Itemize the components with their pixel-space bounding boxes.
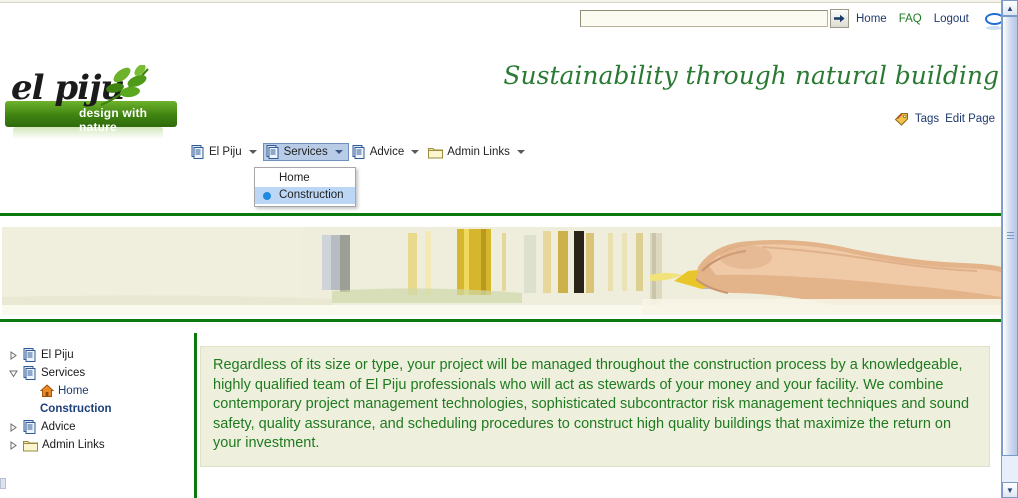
dropdown-item-label: Home [279, 172, 310, 184]
sidebar-item-label: Construction [40, 403, 112, 415]
arrow-right-icon [833, 12, 846, 25]
services-dropdown-menu[interactable]: Home Construction [254, 167, 356, 207]
logo-tagline: design with nature [79, 106, 183, 134]
menu-item-label: Admin Links [447, 146, 510, 158]
dropdown-item-construction[interactable]: Construction [255, 187, 355, 204]
banner-image [2, 227, 1001, 315]
menu-item-label: Advice [370, 146, 405, 158]
selected-bullet-icon [263, 192, 271, 200]
content-area: El Piju Services [0, 333, 1001, 498]
divider-rule-top [0, 213, 1001, 216]
leaf-branch-icon [96, 65, 156, 109]
menu-item-label: El Piju [209, 146, 242, 158]
folder-icon [428, 146, 443, 159]
scroll-down-button[interactable]: ▼ [1002, 482, 1018, 498]
sidebar-item-advice[interactable]: Advice [0, 418, 194, 436]
page-tools: Tags Edit Page [894, 112, 995, 126]
site-logo[interactable]: el piju design with nature [3, 61, 183, 139]
sidebar-item-label: El Piju [41, 349, 74, 361]
scrollbar-track[interactable] [1002, 16, 1018, 482]
chevron-down-icon [517, 150, 525, 154]
search-submit-button[interactable] [830, 9, 849, 28]
menu-item-admin-links[interactable]: Admin Links [425, 143, 531, 161]
home-icon [40, 384, 54, 398]
page-canvas: HomeFAQLogout el piju design with nature… [0, 3, 1001, 498]
utility-link-logout[interactable]: Logout [934, 13, 969, 25]
pages-icon [352, 145, 366, 159]
utility-links: HomeFAQLogout [856, 13, 981, 25]
user-avatar-icon[interactable] [985, 13, 1001, 25]
menu-item-advice[interactable]: Advice [349, 143, 426, 161]
utility-row: HomeFAQLogout [0, 5, 1001, 31]
twisty-expanded-icon[interactable] [8, 369, 19, 378]
main-menubar: El Piju Services [188, 142, 531, 162]
pages-icon [23, 420, 37, 434]
vertical-scrollbar[interactable]: ▲ ▼ [1001, 0, 1018, 498]
twisty-collapsed-icon[interactable] [8, 441, 19, 450]
pages-icon [266, 145, 280, 159]
utility-link-faq[interactable]: FAQ [899, 13, 922, 25]
status-resize-nub[interactable] [0, 478, 6, 489]
twisty-collapsed-icon[interactable] [8, 351, 19, 360]
site-tagline: Sustainability through natural building [503, 61, 999, 90]
menu-item-el-piju[interactable]: El Piju [188, 143, 263, 161]
article-body: Regardless of its size or type, your pro… [200, 346, 990, 467]
sidebar-tree: El Piju Services [0, 333, 197, 498]
browser-page: ▲ ▼ HomeFAQLogout [0, 0, 1018, 498]
edit-page-link[interactable]: Edit Page [945, 113, 995, 125]
scroll-up-button[interactable]: ▲ [1002, 0, 1018, 16]
sidebar-item-home[interactable]: Home [0, 382, 194, 400]
utility-link-home[interactable]: Home [856, 13, 887, 25]
folder-icon [23, 439, 38, 452]
tag-icon [894, 112, 909, 126]
dropdown-item-label: Construction [279, 189, 344, 201]
chevron-down-icon [249, 150, 257, 154]
chevron-down-icon [335, 150, 343, 154]
twisty-collapsed-icon[interactable] [8, 423, 19, 432]
sidebar-item-admin-links[interactable]: Admin Links [0, 436, 194, 454]
tags-link[interactable]: Tags [915, 113, 939, 125]
scrollbar-grip-icon [1007, 232, 1014, 240]
banner-illustration [2, 227, 1001, 315]
chevron-down-icon [411, 150, 419, 154]
menu-item-services[interactable]: Services [263, 143, 349, 161]
sidebar-item-construction[interactable]: Construction [0, 400, 194, 418]
sidebar-item-label: Advice [41, 421, 76, 433]
pages-icon [23, 348, 37, 362]
sidebar-item-el-piju[interactable]: El Piju [0, 346, 194, 364]
pages-icon [191, 145, 205, 159]
sidebar-item-label: Home [58, 385, 89, 397]
search-box[interactable] [580, 10, 828, 27]
divider-rule-bottom [0, 319, 1001, 322]
sidebar-item-label: Services [41, 367, 85, 379]
scrollbar-thumb[interactable] [1002, 16, 1018, 456]
sidebar-item-label: Admin Links [42, 439, 105, 451]
menu-item-label: Services [284, 146, 328, 158]
pages-icon [23, 366, 37, 380]
sidebar-item-services[interactable]: Services [0, 364, 194, 382]
dropdown-item-home[interactable]: Home [255, 170, 355, 187]
search-input[interactable] [581, 12, 827, 27]
user-avatar-shadow [986, 26, 1001, 30]
